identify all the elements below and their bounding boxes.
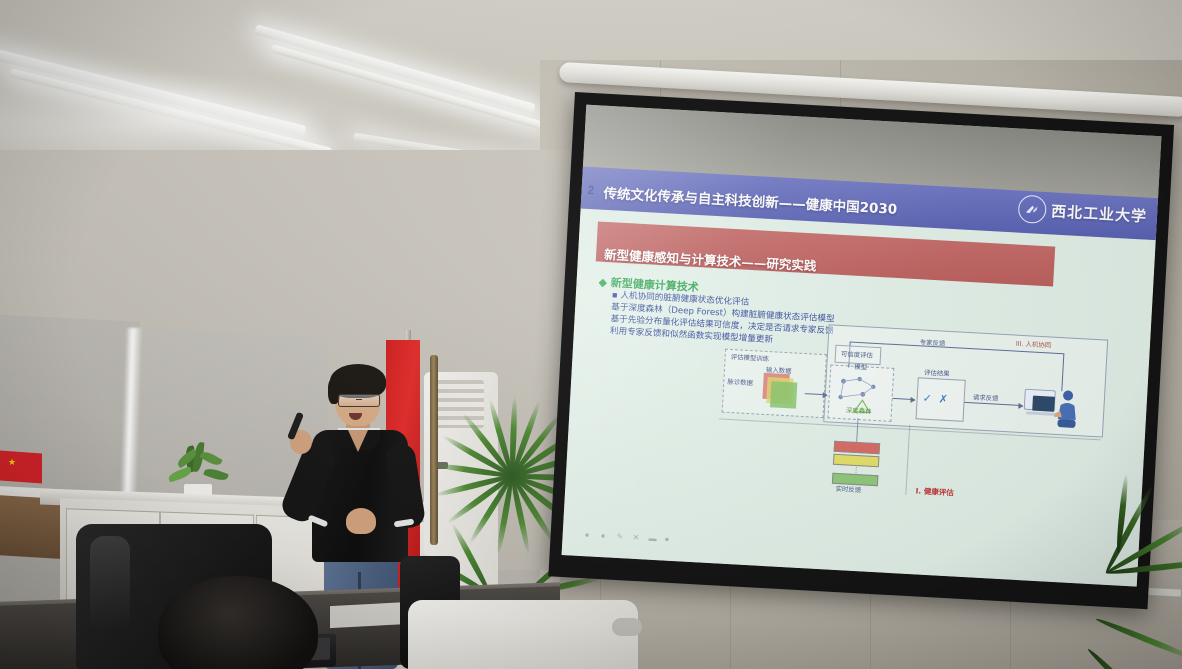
presenter-glasses	[338, 394, 380, 407]
presentation-room-photo: ★	[0, 0, 1182, 669]
highlighter-icon[interactable]: ●	[600, 532, 607, 539]
diagram-node-label: 评估结果	[924, 368, 950, 378]
diagram-edge-label: 可信度评估	[841, 349, 873, 360]
university-logo: 西北工业大学	[1017, 195, 1147, 230]
diagram-edge-label: 请求反馈	[973, 392, 999, 402]
diagram-node-label: 深度森林	[846, 405, 872, 415]
chinese-flag-small	[0, 451, 42, 484]
diagram-expert-icon	[1019, 381, 1084, 432]
diagram-divider	[905, 425, 910, 495]
flag-star-icon: ★	[8, 458, 17, 467]
powerpoint-pen-toolbar[interactable]: ● ● ✎ ✕ ▬ ●	[584, 531, 671, 543]
foreground-plant	[1066, 530, 1182, 669]
diagram-node-label: 脉诊数据	[727, 377, 753, 387]
diagram-data-stack	[762, 373, 794, 405]
diagram-outer-label: III. 人机协同	[1016, 339, 1052, 350]
pointer-icon[interactable]: ✕	[632, 534, 639, 541]
diagram-legend-label: I. 健康评估	[915, 485, 954, 498]
slide-section-number: 2	[587, 183, 594, 197]
chair-handle-cutout	[612, 618, 642, 636]
paper-sheet	[330, 602, 410, 628]
slide-diagram: III. 人机协同 评估模型训练 脉诊数据 输入数据 模型	[716, 315, 1124, 502]
diagram-score-bar	[834, 441, 881, 455]
ink-icon[interactable]: ▬	[648, 535, 655, 542]
plant-trunk	[430, 355, 438, 545]
office-chair[interactable]	[408, 600, 638, 669]
presenter-hand-right	[346, 508, 376, 534]
diagram-result-check-icon: ✓	[922, 392, 932, 405]
university-name: 西北工业大学	[1051, 200, 1148, 226]
diagram-edge-label: 实时反馈	[835, 484, 861, 494]
university-emblem-icon	[1017, 195, 1046, 224]
pen-icon[interactable]: ●	[584, 531, 591, 538]
diagram-result-cross-icon: ✗	[938, 392, 948, 405]
chair-highlight	[90, 536, 130, 631]
screen-surface: 西北工业大学 2 传统文化传承与自主科技创新——健康中国2030 新型健康感知与…	[562, 105, 1162, 587]
more-icon[interactable]: ●	[664, 536, 671, 543]
diagram-edge-label: 专家反馈	[920, 337, 946, 347]
eraser-icon[interactable]: ✎	[616, 533, 623, 540]
diagram-vertical-connector	[856, 418, 858, 442]
